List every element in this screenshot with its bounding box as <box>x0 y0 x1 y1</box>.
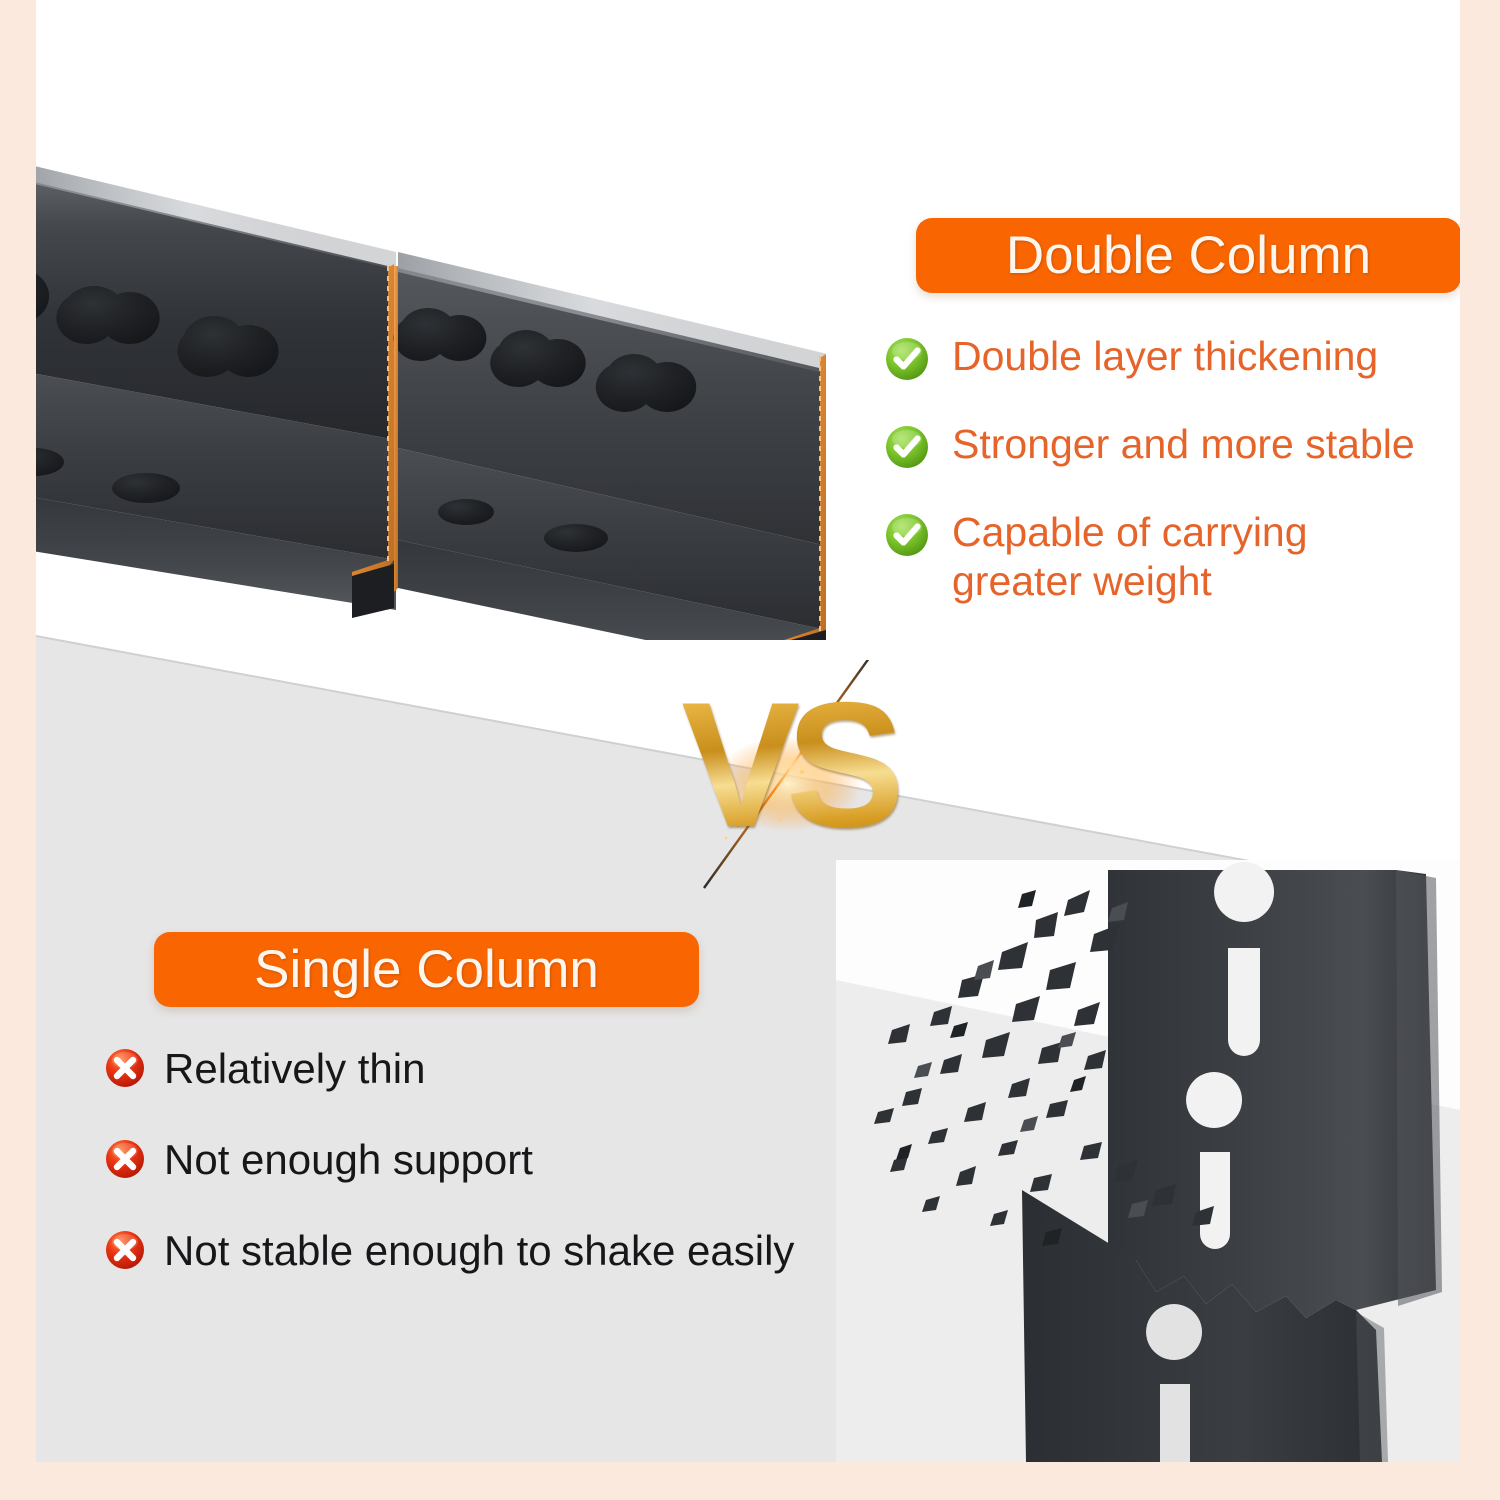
green-check-icon <box>884 336 930 382</box>
versus-label: VS <box>656 660 916 890</box>
list-item-label: Stronger and more stable <box>952 420 1415 469</box>
list-item: Stronger and more stable <box>884 420 1460 470</box>
single-column-feature-list: Relatively thin Not enough support <box>104 1044 934 1317</box>
list-item: Relatively thin <box>104 1044 934 1093</box>
double-column-badge: Double Column <box>916 218 1460 293</box>
list-item-label: Relatively thin <box>164 1044 425 1093</box>
double-column-product-photo <box>36 140 826 640</box>
single-column-badge: Single Column <box>154 932 699 1007</box>
single-column-badge-label: Single Column <box>254 939 599 1000</box>
red-cross-icon <box>104 1229 146 1271</box>
red-cross-icon <box>104 1138 146 1180</box>
list-item: Not enough support <box>104 1135 934 1184</box>
list-item-label: Capable of carrying greater weight <box>952 508 1372 606</box>
infographic-frame: VS Double Column <box>0 0 1500 1500</box>
list-item-label: Not stable enough to shake easily <box>164 1226 794 1275</box>
versus-emblem: VS <box>656 660 916 890</box>
single-column-product-photo <box>836 860 1460 1462</box>
double-column-badge-label: Double Column <box>1006 225 1371 286</box>
list-item-label: Double layer thickening <box>952 332 1378 381</box>
list-item: Double layer thickening <box>884 332 1460 382</box>
list-item: Capable of carrying greater weight <box>884 508 1460 606</box>
infographic-canvas: VS Double Column <box>36 0 1460 1462</box>
red-cross-icon <box>104 1047 146 1089</box>
double-column-feature-list: Double layer thickening Stronger and mor… <box>884 332 1460 644</box>
green-check-icon <box>884 424 930 470</box>
list-item-label: Not enough support <box>164 1135 533 1184</box>
green-check-icon <box>884 512 930 558</box>
list-item: Not stable enough to shake easily <box>104 1226 934 1275</box>
